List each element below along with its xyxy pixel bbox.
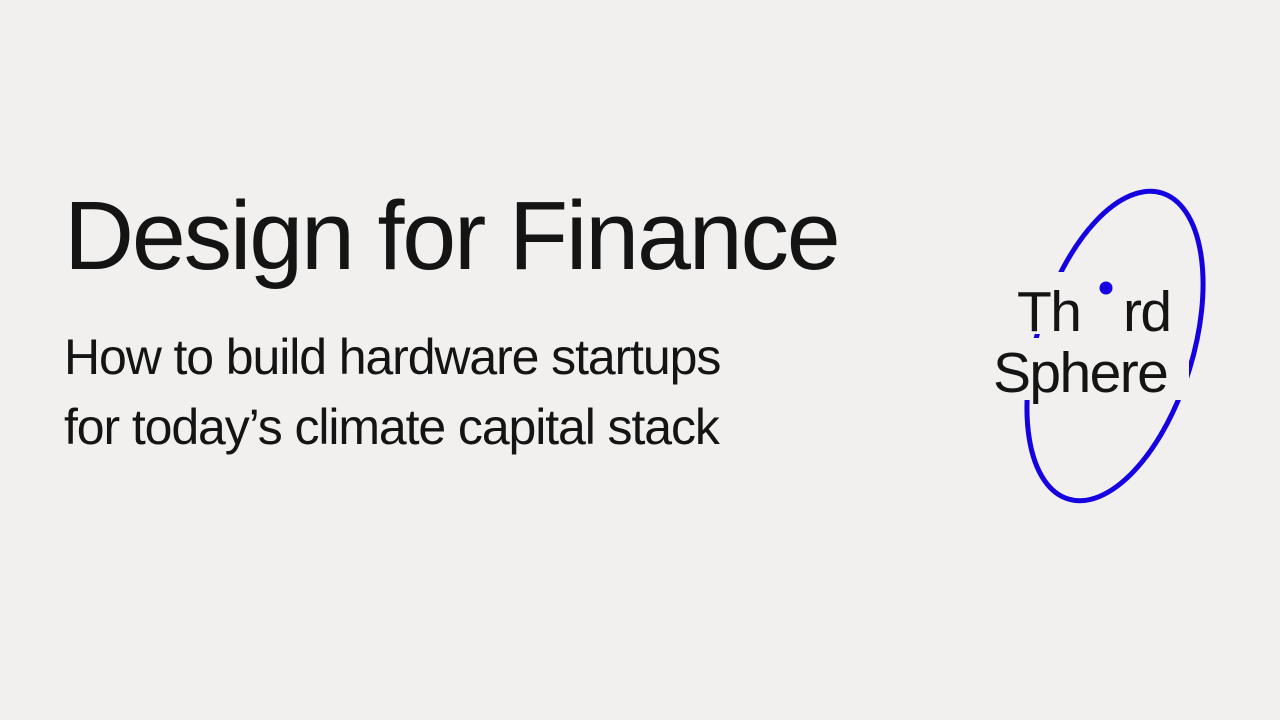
slide-canvas: Design for Finance How to build hardware…: [0, 0, 1280, 720]
orbit-dot-icon: [1100, 282, 1113, 295]
third-sphere-logo: Th rd Sphere: [975, 170, 1235, 520]
logo-svg: Th rd Sphere: [975, 170, 1235, 520]
logo-wordmark-line-1-right: rd: [1123, 280, 1170, 344]
page-title: Design for Finance: [64, 188, 944, 284]
logo-wordmark-line-2: Sphere: [993, 341, 1167, 405]
subtitle-line-2: for today’s climate capital stack: [64, 392, 944, 462]
subtitle-line-1: How to build hardware startups: [64, 322, 944, 392]
logo-wordmark-line-1-left: Th: [1017, 280, 1080, 344]
slide-subtitle: How to build hardware startups for today…: [64, 284, 944, 462]
slide-text-block: Design for Finance How to build hardware…: [64, 188, 944, 462]
